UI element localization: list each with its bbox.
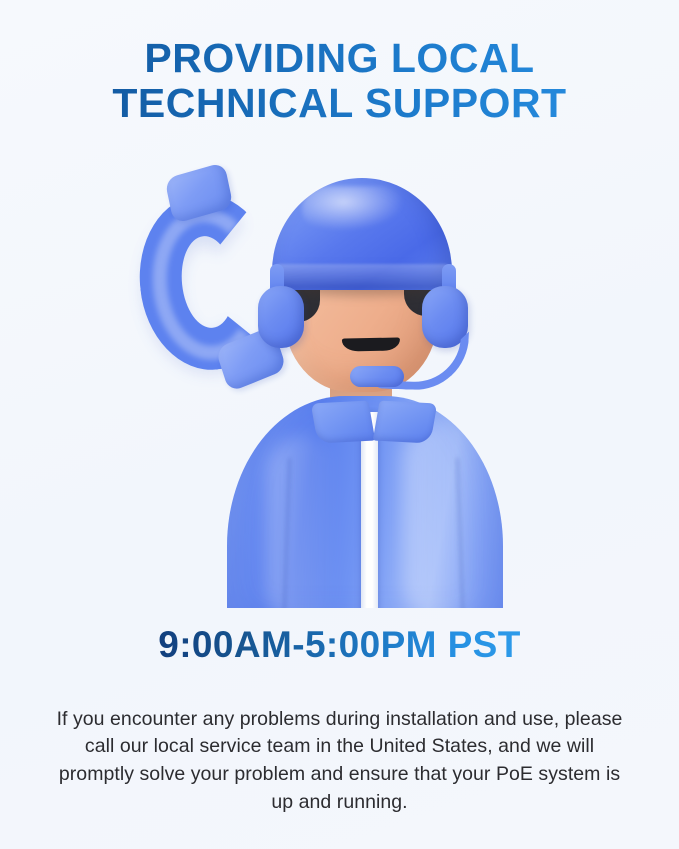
page-title-line-1: PROVIDING LOCAL xyxy=(0,38,679,80)
headset-mic-tip xyxy=(350,366,404,387)
jacket-highlight-right xyxy=(403,422,477,608)
headset-earcup-left xyxy=(258,286,304,348)
support-hours: 9:00AM-5:00PM PST xyxy=(0,624,679,666)
cap-band xyxy=(274,264,450,288)
jacket-zipper-placket xyxy=(361,412,378,608)
jacket-collar-left xyxy=(311,401,376,444)
page-title-line-2: TECHNICAL SUPPORT xyxy=(0,83,679,125)
support-poster: PROVIDING LOCAL TECHNICAL SUPPORT xyxy=(0,0,679,849)
cap-gloss-highlight xyxy=(302,186,406,232)
agent-head xyxy=(258,178,466,404)
support-hours-text: 9:00AM-5:00PM PST xyxy=(158,624,521,666)
jacket-highlight-left xyxy=(267,436,337,608)
jacket-collar-right xyxy=(373,401,438,444)
support-description: If you encounter any problems during ins… xyxy=(50,706,629,817)
hero-illustration xyxy=(0,160,679,608)
page-title: PROVIDING LOCAL TECHNICAL SUPPORT xyxy=(0,38,679,125)
agent-torso xyxy=(218,388,513,608)
